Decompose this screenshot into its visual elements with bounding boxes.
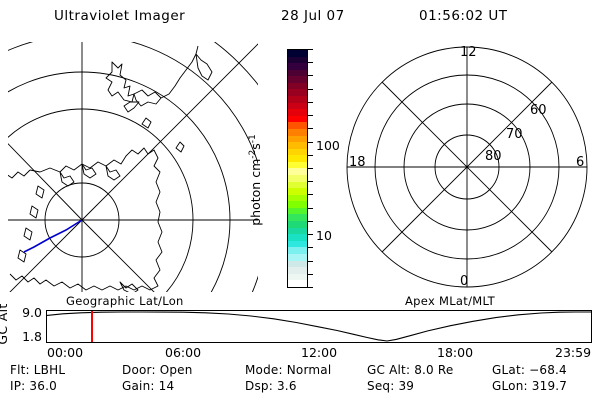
colorbar-minor-tick <box>308 194 313 195</box>
status-row-1: Flt: LBHL Door: Open Mode: Normal GC Alt… <box>0 363 600 379</box>
colorbar-minor-tick <box>308 234 313 235</box>
status-door: Door: Open <box>122 363 193 377</box>
colorbar-band-22 <box>288 195 307 202</box>
altitude-time-series-plot[interactable] <box>46 310 592 343</box>
colorbar-band-14 <box>288 142 307 149</box>
geo-coastline-group <box>8 46 212 292</box>
colorbar-band-29 <box>288 241 307 248</box>
colorbar-band-1 <box>288 57 307 64</box>
status-filter: Flt: LBHL <box>10 363 65 377</box>
colorbar-minor-tick <box>308 208 313 209</box>
colorbar-band-9 <box>288 109 307 116</box>
colorbar-band-12 <box>288 129 307 136</box>
geo-coastline <box>106 166 120 180</box>
altitude-xtick-label: 12:00 <box>301 345 337 360</box>
observation-date: 28 Jul 07 <box>281 8 345 24</box>
mlt-panel-caption: Apex MLat/MLT <box>405 294 495 308</box>
colorbar-minor-tick <box>308 247 313 248</box>
colorbar-scale <box>287 49 308 288</box>
colorbar-band-30 <box>288 247 307 254</box>
altitude-ytick-low: 1.8 <box>12 329 42 344</box>
geo-coastline <box>124 102 139 112</box>
colorbar-band-7 <box>288 96 307 103</box>
geo-coastline <box>176 142 184 152</box>
colorbar-band-32 <box>288 261 307 268</box>
colorbar-band-17 <box>288 162 307 169</box>
mlt-label-0: 0 <box>460 274 468 289</box>
geo-coastline <box>106 62 134 102</box>
status-gain: Gain: 14 <box>122 379 174 393</box>
altitude-curve-svg <box>47 311 591 342</box>
colorbar-band-4 <box>288 76 307 83</box>
geographic-map-panel[interactable] <box>8 42 258 292</box>
colorbar-band-25 <box>288 214 307 221</box>
colorbar-band-33 <box>288 267 307 274</box>
mlat-label-80: 80 <box>485 149 502 164</box>
geo-coastline <box>36 186 44 198</box>
colorbar-band-21 <box>288 188 307 195</box>
status-footer: Flt: LBHL Door: Open Mode: Normal GC Alt… <box>0 363 600 397</box>
geo-meridian <box>8 82 82 220</box>
altitude-xtick-label: 06:00 <box>165 345 201 360</box>
colorbar-band-34 <box>288 274 307 281</box>
geo-coastline <box>82 164 96 178</box>
geo-coastline <box>142 118 151 128</box>
colorbar-minor-tick <box>308 128 313 129</box>
colorbar-band-13 <box>288 136 307 143</box>
geographic-panel-caption: Geographic Lat/Lon <box>66 294 184 308</box>
geographic-map-svg <box>8 42 258 292</box>
altitude-ytick-high: 9.0 <box>12 305 42 320</box>
colorbar-band-19 <box>288 175 307 182</box>
colorbar-minor-tick <box>308 142 313 143</box>
geo-coastline <box>24 228 32 240</box>
status-row-2: IP: 36.0 Gain: 14 Dsp: 3.6 Seq: 39 GLon:… <box>0 379 600 395</box>
observation-time: 01:56:02 UT <box>419 8 508 24</box>
colorbar-minor-tick <box>308 49 313 50</box>
colorbar-band-20 <box>288 182 307 189</box>
colorbar-band-6 <box>288 89 307 96</box>
colorbar-minor-tick <box>308 75 313 76</box>
colorbar-minor-tick <box>308 115 313 116</box>
satellite-ground-track <box>24 220 82 252</box>
mlt-dial-panel[interactable]: 12 6 0 18 60 70 80 <box>342 42 592 292</box>
colorbar-band-23 <box>288 201 307 208</box>
colorbar-minor-tick <box>308 89 313 90</box>
status-gc-alt: GC Alt: 8.0 Re <box>367 363 453 377</box>
colorbar-band-26 <box>288 221 307 228</box>
status-glon: GLon: 319.7 <box>492 379 567 393</box>
altitude-xtick-label: 18:00 <box>437 345 473 360</box>
colorbar-tick-label-10: 10 <box>316 228 332 243</box>
geo-meridian <box>82 220 258 292</box>
status-glat: GLat: −68.4 <box>492 363 567 377</box>
colorbar-minor-tick <box>308 261 313 262</box>
colorbar-band-24 <box>288 208 307 215</box>
colorbar-minor-tick <box>308 221 313 222</box>
colorbar-band-28 <box>288 234 307 241</box>
uvi-display-window: Ultraviolet Imager 28 Jul 07 01:56:02 UT <box>0 0 600 400</box>
mlt-dial-svg: 12 6 0 18 60 70 80 <box>342 42 592 292</box>
altitude-xtick-label: 23:59 <box>555 345 591 360</box>
colorbar-minor-tick <box>308 287 313 288</box>
colorbar-minor-tick <box>308 102 313 103</box>
colorbar-band-18 <box>288 168 307 175</box>
colorbar-band-3 <box>288 70 307 77</box>
colorbar-tick-label-100: 100 <box>316 138 340 153</box>
status-ip: IP: 36.0 <box>10 379 57 393</box>
colorbar-minor-tick <box>308 62 313 63</box>
colorbar-band-27 <box>288 228 307 235</box>
current-time-cursor <box>91 311 93 342</box>
colorbar-band-11 <box>288 122 307 129</box>
mlt-label-18: 18 <box>349 155 366 170</box>
colorbar-minor-tick <box>308 155 313 156</box>
mlat-label-70: 70 <box>506 127 523 142</box>
colorbar-band-2 <box>288 63 307 70</box>
mlat-label-60: 60 <box>530 103 547 118</box>
altitude-curve <box>47 312 591 341</box>
mlt-label-6: 6 <box>576 155 584 170</box>
colorbar-band-16 <box>288 155 307 162</box>
colorbar-minor-tick <box>308 168 313 169</box>
geo-coastline <box>60 172 74 186</box>
colorbar-band-0 <box>288 50 307 57</box>
geo-meridian <box>82 42 258 220</box>
header-bar: Ultraviolet Imager 28 Jul 07 01:56:02 UT <box>0 8 600 28</box>
geo-coastline <box>8 170 30 178</box>
altitude-xtick-label: 00:00 <box>47 345 83 360</box>
colorbar-band-8 <box>288 103 307 110</box>
colorbar-band-15 <box>288 149 307 156</box>
colorbar-minor-tick <box>308 181 313 182</box>
colorbar-band-35 <box>288 280 307 287</box>
status-dsp: Dsp: 3.6 <box>245 379 297 393</box>
colorbar-band-10 <box>288 116 307 123</box>
colorbar-tick-marks <box>308 49 315 288</box>
mlt-label-12: 12 <box>460 45 477 60</box>
colorbar-minor-tick <box>308 274 313 275</box>
colorbar-unit-label: photon cm-2s-1 <box>248 110 263 250</box>
status-seq: Seq: 39 <box>367 379 414 393</box>
instrument-title: Ultraviolet Imager <box>54 8 185 24</box>
geo-coastline <box>30 206 38 218</box>
colorbar-band-31 <box>288 254 307 261</box>
status-mode: Mode: Normal <box>245 363 331 377</box>
altitude-axis-label: GC Alt <box>0 294 10 354</box>
colorbar-band-5 <box>288 83 307 90</box>
